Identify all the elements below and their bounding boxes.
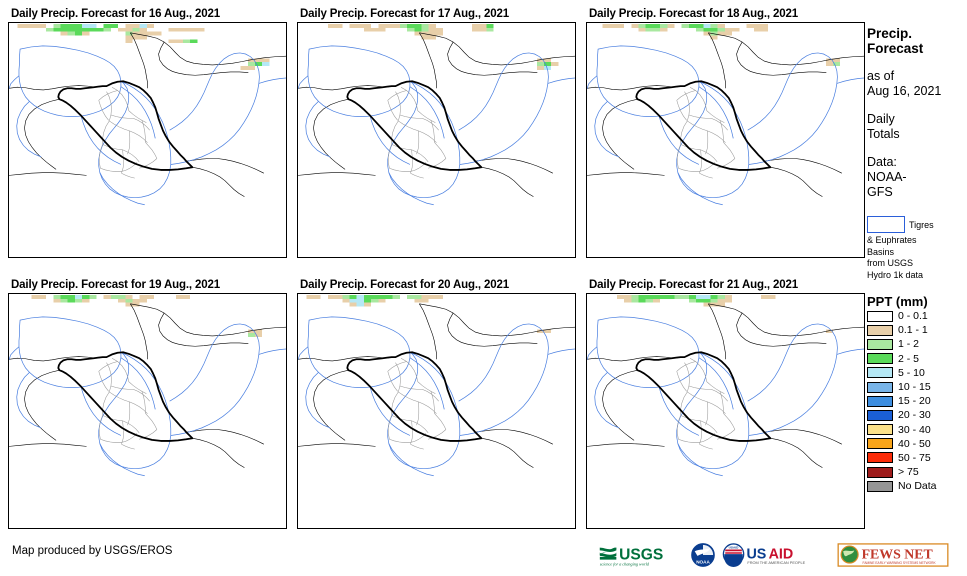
map-panel-grid: Daily Precip. Forecast for 16 Aug., 2021… xyxy=(0,0,855,545)
ppt-legend-swatch xyxy=(867,410,893,421)
panel-map-4 xyxy=(9,294,286,528)
legend-sidebar: Precip. Forecast as of Aug 16, 2021 Dail… xyxy=(860,0,967,576)
ppt-legend-swatch xyxy=(867,367,893,378)
ppt-legend-swatch xyxy=(867,424,893,435)
ppt-legend-label: 0.1 - 1 xyxy=(898,324,928,336)
panel-title-5: Daily Precip. Forecast for 20 Aug., 2021 xyxy=(297,277,576,293)
panel-map-frame-3 xyxy=(586,22,865,258)
ppt-legend-label: No Data xyxy=(898,480,937,492)
panel-map-frame-4 xyxy=(8,293,287,529)
ppt-legend-row: > 75 xyxy=(867,465,967,479)
ppt-legend-row: 0.1 - 1 xyxy=(867,323,967,337)
as-of-label: as of xyxy=(867,69,967,84)
data-source-line2: NOAA- xyxy=(867,170,967,185)
ppt-legend-label: 5 - 10 xyxy=(898,367,925,379)
ppt-legend-row: 2 - 5 xyxy=(867,352,967,366)
sidebar-title-line1: Precip. xyxy=(867,26,967,41)
svg-text:USAID: USAID xyxy=(729,546,739,550)
forecast-panel-2: Daily Precip. Forecast for 17 Aug., 2021 xyxy=(297,6,576,258)
fewsnet-logo: FEWS NET FAMINE EARLY WARNING SYSTEMS NE… xyxy=(837,543,949,567)
data-source-line3: GFS xyxy=(867,185,967,200)
totals-line1: Daily xyxy=(867,112,967,127)
ppt-legend-row: 5 - 10 xyxy=(867,366,967,380)
ppt-legend-title: PPT (mm) xyxy=(867,294,967,309)
totals-line2: Totals xyxy=(867,127,967,142)
ppt-legend-swatch xyxy=(867,311,893,322)
basin-legend: Tigres & Euphrates Basins from USGS Hydr… xyxy=(867,216,967,280)
panel-map-1 xyxy=(9,23,286,257)
basin-legend-line2: & Euphrates xyxy=(867,235,967,246)
panel-map-frame-1 xyxy=(8,22,287,258)
svg-text:FROM THE AMERICAN PEOPLE: FROM THE AMERICAN PEOPLE xyxy=(747,560,805,565)
ppt-legend-row: 20 - 30 xyxy=(867,408,967,422)
panel-title-3: Daily Precip. Forecast for 18 Aug., 2021 xyxy=(586,6,865,22)
panel-title-6: Daily Precip. Forecast for 21 Aug., 2021 xyxy=(586,277,865,293)
ppt-legend-label: 30 - 40 xyxy=(898,424,931,436)
ppt-legend-label: 0 - 0.1 xyxy=(898,310,928,322)
svg-text:FAMINE EARLY WARNING SYSTEMS N: FAMINE EARLY WARNING SYSTEMS NETWORK xyxy=(863,561,937,565)
as-of-date: Aug 16, 2021 xyxy=(867,84,967,99)
forecast-panel-5: Daily Precip. Forecast for 20 Aug., 2021 xyxy=(297,277,576,529)
forecast-panel-4: Daily Precip. Forecast for 19 Aug., 2021 xyxy=(8,277,287,529)
ppt-legend-label: 50 - 75 xyxy=(898,452,931,464)
ppt-legend-row: 15 - 20 xyxy=(867,394,967,408)
panel-map-3 xyxy=(587,23,864,257)
ppt-legend-label: 40 - 50 xyxy=(898,438,931,450)
panel-map-5 xyxy=(298,294,575,528)
ppt-legend-swatch xyxy=(867,325,893,336)
ppt-legend-swatch xyxy=(867,481,893,492)
ppt-legend-row: 50 - 75 xyxy=(867,451,967,465)
panel-map-frame-6 xyxy=(586,293,865,529)
ppt-legend-row: 40 - 50 xyxy=(867,437,967,451)
noaa-logo: NOAA xyxy=(691,543,715,567)
forecast-panel-3: Daily Precip. Forecast for 18 Aug., 2021 xyxy=(586,6,865,258)
ppt-legend-swatch xyxy=(867,467,893,478)
ppt-legend-label: 10 - 15 xyxy=(898,381,931,393)
ppt-legend-swatch xyxy=(867,353,893,364)
forecast-panel-6: Daily Precip. Forecast for 21 Aug., 2021 xyxy=(586,277,865,529)
sidebar-title: Precip. Forecast xyxy=(867,26,967,56)
map-credit: Map produced by USGS/EROS xyxy=(12,545,172,557)
ppt-legend-label: > 75 xyxy=(898,466,919,478)
basin-swatch xyxy=(867,216,905,233)
panel-map-2 xyxy=(298,23,575,257)
ppt-legend-row: 1 - 2 xyxy=(867,337,967,351)
ppt-legend-row: No Data xyxy=(867,479,967,493)
ppt-legend-label: 1 - 2 xyxy=(898,338,919,350)
ppt-legend-swatch xyxy=(867,382,893,393)
ppt-legend-row: 10 - 15 xyxy=(867,380,967,394)
ppt-legend-swatch xyxy=(867,339,893,350)
basin-legend-line4: from USGS xyxy=(867,258,967,269)
svg-text:NOAA: NOAA xyxy=(696,559,710,564)
ppt-legend-row: 30 - 40 xyxy=(867,423,967,437)
ppt-legend-swatch xyxy=(867,438,893,449)
ppt-legend-label: 15 - 20 xyxy=(898,395,931,407)
forecast-panel-1: Daily Precip. Forecast for 16 Aug., 2021 xyxy=(8,6,287,258)
ppt-legend-label: 20 - 30 xyxy=(898,409,931,421)
totals-block: Daily Totals xyxy=(867,112,967,142)
ppt-legend-swatch xyxy=(867,452,893,463)
agency-logo-row: USGS science for a changing world NOAA U… xyxy=(598,543,949,567)
data-source-block: Data: NOAA- GFS xyxy=(867,155,967,200)
ppt-legend-swatch xyxy=(867,396,893,407)
ppt-legend: 0 - 0.10.1 - 11 - 22 - 55 - 1010 - 1515 … xyxy=(860,309,967,493)
usgs-logo: USGS science for a changing world xyxy=(598,543,686,567)
usaid-logo: USAID US AID FROM THE AMERICAN PEOPLE xyxy=(720,543,832,567)
ppt-legend-label: 2 - 5 xyxy=(898,353,919,365)
as-of-block: as of Aug 16, 2021 xyxy=(867,69,967,99)
basin-legend-line3: Basins xyxy=(867,247,967,258)
panel-map-frame-5 xyxy=(297,293,576,529)
panel-title-1: Daily Precip. Forecast for 16 Aug., 2021 xyxy=(8,6,287,22)
svg-text:FEWS NET: FEWS NET xyxy=(862,547,934,562)
basin-legend-label: Tigres xyxy=(909,220,934,230)
panel-map-frame-2 xyxy=(297,22,576,258)
data-source-label: Data: xyxy=(867,155,967,170)
sidebar-title-line2: Forecast xyxy=(867,41,967,56)
panel-map-6 xyxy=(587,294,864,528)
basin-legend-line5: Hydro 1k data xyxy=(867,270,967,281)
ppt-legend-row: 0 - 0.1 xyxy=(867,309,967,323)
panel-title-4: Daily Precip. Forecast for 19 Aug., 2021 xyxy=(8,277,287,293)
panel-title-2: Daily Precip. Forecast for 17 Aug., 2021 xyxy=(297,6,576,22)
svg-text:science for a changing world: science for a changing world xyxy=(600,562,650,567)
